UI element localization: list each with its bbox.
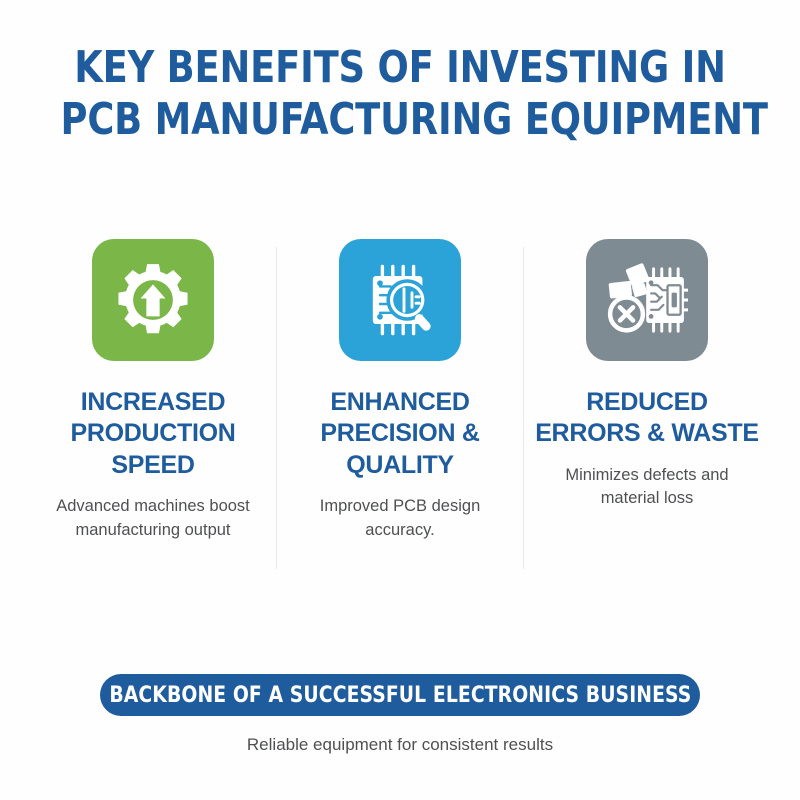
benefit-column-increased-production-speed: INCREASED PRODUCTION SPEED Advanced mach… (30, 239, 276, 542)
page-title-line-2: PCB MANUFACTURING EQUIPMENT (61, 94, 740, 146)
infographic-poster: KEY BENEFITS OF INVESTING IN PCB MANUFAC… (0, 0, 800, 800)
broken-chip-error-icon (586, 239, 708, 361)
benefit-description: Advanced machines boost manufacturing ou… (41, 495, 266, 542)
footer-block: BACKBONE OF A SUCCESSFUL ELECTRONICS BUS… (0, 674, 800, 755)
status-badge: BACKBONE OF A SUCCESSFUL ELECTRONICS BUS… (100, 674, 700, 716)
benefits-columns: INCREASED PRODUCTION SPEED Advanced mach… (30, 239, 770, 569)
benefit-column-enhanced-precision-quality: ENHANCED PRECISION & QUALITY Improved PC… (277, 239, 523, 542)
benefit-heading: INCREASED PRODUCTION SPEED (38, 387, 268, 482)
page-title-line-1: KEY BENEFITS OF INVESTING IN (61, 42, 740, 94)
footer-caption: Reliable equipment for consistent result… (247, 735, 553, 755)
chip-magnifier-icon (339, 239, 461, 361)
benefit-description: Improved PCB design accuracy. (288, 495, 513, 542)
benefit-heading: ENHANCED PRECISION & QUALITY (285, 387, 515, 482)
benefit-column-reduced-errors-waste: REDUCED ERRORS & WASTE Minimizes defects… (524, 239, 770, 511)
benefit-heading: REDUCED ERRORS & WASTE (532, 387, 762, 450)
gear-arrow-up-icon (92, 239, 214, 361)
page-title: KEY BENEFITS OF INVESTING IN PCB MANUFAC… (35, 42, 765, 147)
banner-label: BACKBONE OF A SUCCESSFUL ELECTRONICS BUS… (109, 683, 691, 708)
benefit-description: Minimizes defects and material loss (535, 464, 760, 511)
